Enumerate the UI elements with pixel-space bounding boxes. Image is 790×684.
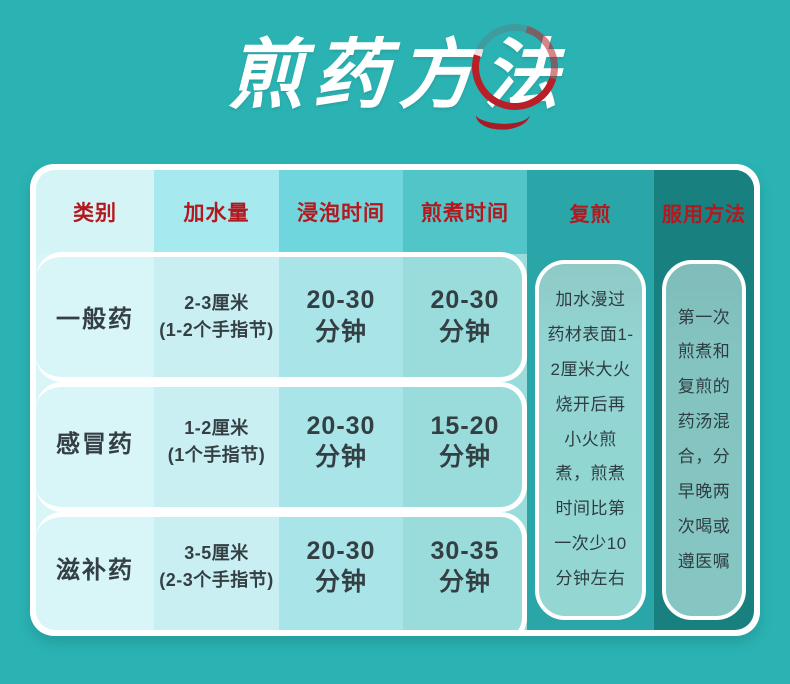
water-amount-line2: (1-2个手指节) — [159, 320, 274, 340]
table-row[interactable]: 1-2厘米 (1个手指节) — [154, 379, 279, 504]
table-grid: 类别 一般药 感冒药 滋补药 加水量 — [36, 170, 754, 630]
column-usage-method: 服用方法 第一次煎煮和复煎的药汤混合，分早晚两次喝或遵医嘱 — [654, 170, 754, 630]
cell-category: 感冒药 — [56, 424, 134, 459]
soak-line1: 20-30 — [307, 286, 376, 314]
table-row[interactable]: 30-35 分钟 — [403, 505, 527, 630]
column-category: 类别 一般药 感冒药 滋补药 — [36, 170, 154, 630]
column-water-amount: 加水量 2-3厘米 (1-2个手指节) 1-2厘米 (1个手指节) — [154, 170, 279, 630]
cell-water-amount: 3-5厘米 (2-3个手指节) — [159, 540, 274, 594]
water-amount-cells: 2-3厘米 (1-2个手指节) 1-2厘米 (1个手指节) 3-5厘米 — [154, 254, 279, 630]
usage-method-text: 第一次煎煮和复煎的药汤混合，分早晚两次喝或遵医嘱 — [674, 301, 734, 580]
header-re-decoction: 复煎 — [527, 170, 654, 254]
boil-time-cells: 20-30 分钟 15-20 分钟 30-35 分钟 — [403, 254, 527, 630]
cell-re-decoction[interactable]: 加水漫过药材表面1-2厘米大火烧开后再小火煎煮，煎煮时间比第一次少10分钟左右 — [535, 260, 646, 620]
cell-water-amount: 1-2厘米 (1个手指节) — [168, 415, 266, 469]
table-row[interactable]: 滋补药 — [36, 505, 154, 630]
table-row[interactable]: 15-20 分钟 — [403, 379, 527, 504]
boil-line2: 分钟 — [439, 318, 491, 346]
header-boil-time: 煎煮时间 — [403, 170, 527, 254]
decoction-method-table-card: 类别 一般药 感冒药 滋补药 加水量 — [30, 164, 760, 636]
header-water-amount: 加水量 — [154, 170, 279, 254]
column-boil-time: 煎煮时间 20-30 分钟 15-20 分钟 — [403, 170, 527, 630]
header-category: 类别 — [36, 170, 154, 254]
soak-line2: 分钟 — [315, 318, 367, 346]
water-amount-line1: 2-3厘米 — [184, 293, 249, 313]
table-row[interactable]: 一般药 — [36, 254, 154, 379]
title-banner: 煎药方法 — [0, 0, 790, 152]
water-amount-line2: (2-3个手指节) — [159, 570, 274, 590]
water-amount-line2: (1个手指节) — [168, 445, 266, 465]
table-row[interactable]: 2-3厘米 (1-2个手指节) — [154, 254, 279, 379]
cell-category: 滋补药 — [56, 550, 134, 585]
soak-line1: 20-30 — [307, 537, 376, 565]
water-amount-line1: 1-2厘米 — [184, 418, 249, 438]
cell-soak-time: 20-30 分钟 — [307, 411, 376, 474]
table-inner: 类别 一般药 感冒药 滋补药 加水量 — [36, 170, 754, 630]
soak-line2: 分钟 — [315, 568, 367, 596]
boil-line2: 分钟 — [439, 443, 491, 471]
soak-line1: 20-30 — [307, 412, 376, 440]
soak-time-cells: 20-30 分钟 20-30 分钟 20-30 分钟 — [279, 254, 403, 630]
column-re-decoction: 复煎 加水漫过药材表面1-2厘米大火烧开后再小火煎煮，煎煮时间比第一次少10分钟… — [527, 170, 654, 630]
cell-water-amount: 2-3厘米 (1-2个手指节) — [159, 290, 274, 344]
boil-line1: 30-35 — [431, 537, 500, 565]
water-amount-line1: 3-5厘米 — [184, 543, 249, 563]
header-soak-time: 浸泡时间 — [279, 170, 403, 254]
re-decoction-text: 加水漫过药材表面1-2厘米大火烧开后再小火煎煮，煎煮时间比第一次少10分钟左右 — [547, 283, 634, 597]
cell-category: 一般药 — [56, 299, 134, 334]
boil-line1: 15-20 — [431, 412, 500, 440]
table-row[interactable]: 20-30 分钟 — [279, 379, 403, 504]
boil-line2: 分钟 — [439, 568, 491, 596]
category-cells: 一般药 感冒药 滋补药 — [36, 254, 154, 630]
soak-line2: 分钟 — [315, 443, 367, 471]
table-row[interactable]: 20-30 分钟 — [279, 505, 403, 630]
header-usage-method: 服用方法 — [654, 170, 754, 254]
table-row[interactable]: 20-30 分钟 — [403, 254, 527, 379]
cell-usage-method[interactable]: 第一次煎煮和复煎的药汤混合，分早晚两次喝或遵医嘱 — [662, 260, 746, 620]
cell-soak-time: 20-30 分钟 — [307, 536, 376, 599]
boil-line1: 20-30 — [431, 286, 500, 314]
table-row[interactable]: 3-5厘米 (2-3个手指节) — [154, 505, 279, 630]
table-row[interactable]: 20-30 分钟 — [279, 254, 403, 379]
column-soak-time: 浸泡时间 20-30 分钟 20-30 分钟 — [279, 170, 403, 630]
cell-boil-time: 20-30 分钟 — [431, 285, 500, 348]
page-title: 煎药方法 — [222, 38, 568, 114]
cell-boil-time: 15-20 分钟 — [431, 411, 500, 474]
cell-soak-time: 20-30 分钟 — [307, 285, 376, 348]
table-row[interactable]: 感冒药 — [36, 379, 154, 504]
cell-boil-time: 30-35 分钟 — [431, 536, 500, 599]
